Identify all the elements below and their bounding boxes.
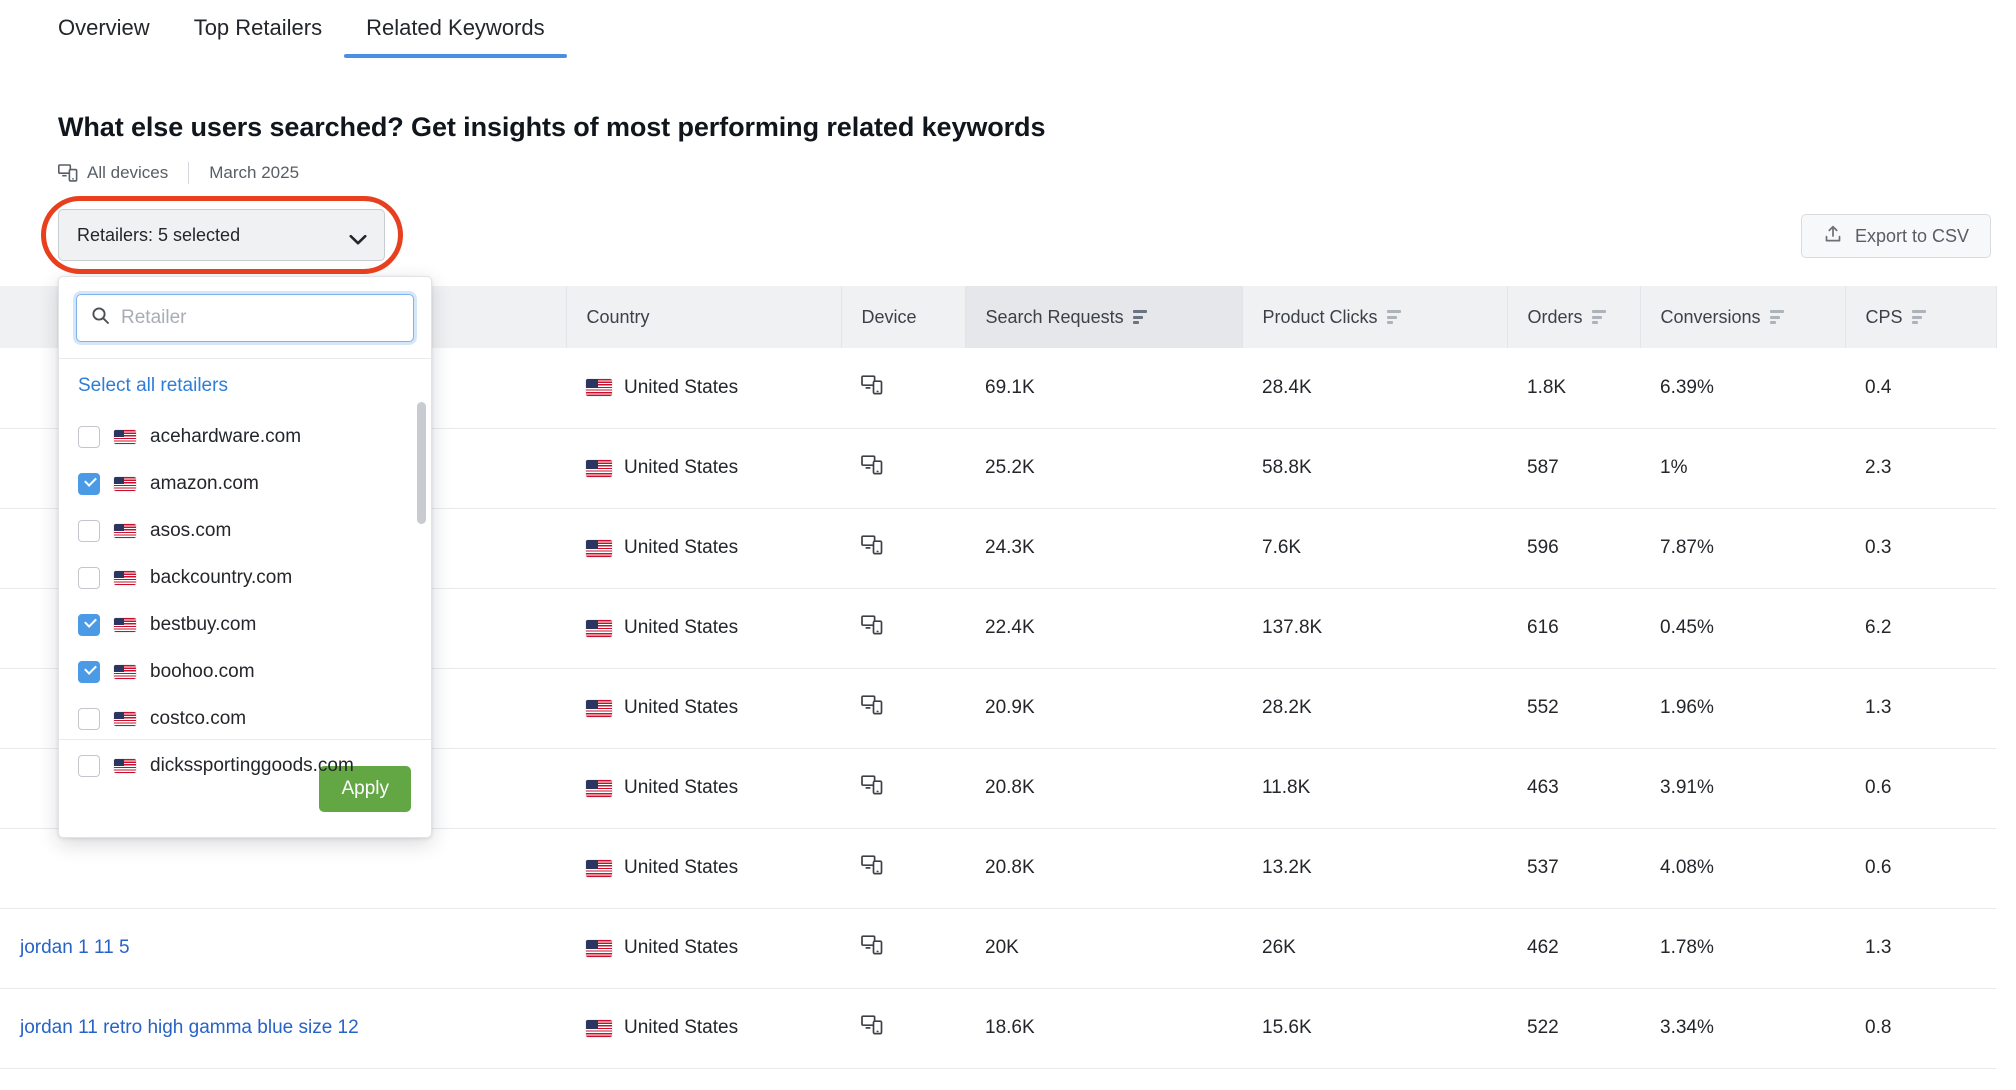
retailer-select-button[interactable]: Retailers: 5 selected	[58, 209, 385, 261]
devices-icon	[861, 935, 883, 955]
cell-search-requests: 24.3K	[965, 508, 1242, 588]
sort-icon-cps[interactable]	[1912, 310, 1926, 324]
retailer-list-item[interactable]: bestbuy.com	[59, 601, 431, 648]
retailer-label: dickssportinggoods.com	[150, 755, 354, 777]
tab-related-keywords-label: Related Keywords	[366, 15, 545, 40]
cell-orders: 596	[1507, 508, 1640, 588]
retailer-list-item[interactable]: amazon.com	[59, 460, 431, 507]
col-header-conversions-label: Conversions	[1661, 307, 1761, 328]
cell-cps: 0.4	[1845, 348, 1996, 428]
retailer-label: amazon.com	[150, 473, 259, 495]
cell-cps: 6.2	[1845, 588, 1996, 668]
retailer-list-item[interactable]: boohoo.com	[59, 648, 431, 695]
devices-icon	[861, 375, 883, 395]
cell-country: United States	[566, 908, 841, 988]
retailer-checkbox[interactable]	[78, 614, 100, 636]
us-flag-icon	[586, 460, 612, 477]
us-flag-icon	[114, 665, 136, 679]
cell-conversions: 6.39%	[1640, 348, 1845, 428]
us-flag-icon	[586, 620, 612, 637]
devices-icon	[861, 695, 883, 715]
retailer-label: costco.com	[150, 708, 246, 730]
cell-orders: 463	[1507, 748, 1640, 828]
us-flag-icon	[586, 780, 612, 797]
col-header-country-label: Country	[587, 307, 650, 328]
retailer-list: Select all retailers acehardware.comamaz…	[59, 359, 431, 739]
devices-icon	[58, 164, 78, 182]
cell-country: United States	[566, 428, 841, 508]
us-flag-icon	[114, 477, 136, 491]
cell-cps: 1.3	[1845, 668, 1996, 748]
retailer-list-item[interactable]: acehardware.com	[59, 413, 431, 460]
cell-search-requests: 25.2K	[965, 428, 1242, 508]
col-header-search-requests[interactable]: Search Requests	[965, 286, 1242, 348]
us-flag-icon	[586, 940, 612, 957]
devices-icon	[861, 855, 883, 875]
us-flag-icon	[114, 524, 136, 538]
cell-product-clicks: 137.8K	[1242, 588, 1507, 668]
country-label: United States	[624, 1017, 738, 1039]
cell-conversions: 4.08%	[1640, 828, 1845, 908]
cell-conversions: 1.78%	[1640, 908, 1845, 988]
cell-orders: 552	[1507, 668, 1640, 748]
table-row: United States20.8K13.2K5374.08%0.6	[0, 828, 1996, 908]
tab-bar: Overview Top Retailers Related Keywords	[0, 0, 2016, 62]
devices-icon	[861, 615, 883, 635]
cell-device	[841, 748, 965, 828]
table-row: jordan 1 11 5United States20K26K4621.78%…	[0, 908, 1996, 988]
devices-icon	[861, 775, 883, 795]
cell-orders: 587	[1507, 428, 1640, 508]
retailer-checkbox[interactable]	[78, 708, 100, 730]
cell-search-requests: 20K	[965, 908, 1242, 988]
retailer-checkbox[interactable]	[78, 520, 100, 542]
cell-orders: 522	[1507, 988, 1640, 1068]
sort-icon-search-requests[interactable]	[1133, 310, 1147, 324]
cell-orders: 616	[1507, 588, 1640, 668]
us-flag-icon	[586, 1020, 612, 1037]
tab-overview[interactable]: Overview	[58, 14, 172, 58]
cell-conversions: 1.96%	[1640, 668, 1845, 748]
country-label: United States	[624, 377, 738, 399]
col-header-orders-label: Orders	[1528, 307, 1583, 328]
cell-country: United States	[566, 508, 841, 588]
retailer-list-item[interactable]: costco.com	[59, 695, 431, 742]
cell-product-clicks: 15.6K	[1242, 988, 1507, 1068]
col-header-product-clicks[interactable]: Product Clicks	[1242, 286, 1507, 348]
us-flag-icon	[114, 712, 136, 726]
us-flag-icon	[114, 618, 136, 632]
export-to-csv-button[interactable]: Export to CSV	[1801, 214, 1991, 258]
col-header-product-clicks-label: Product Clicks	[1263, 307, 1378, 328]
col-header-conversions[interactable]: Conversions	[1640, 286, 1845, 348]
meta-row: All devices March 2025	[58, 162, 2016, 184]
cell-search-requests: 18.6K	[965, 988, 1242, 1068]
retailer-checkbox[interactable]	[78, 473, 100, 495]
cell-device	[841, 988, 965, 1068]
retailer-list-item[interactable]: dickssportinggoods.com	[59, 742, 431, 789]
cell-cps: 0.6	[1845, 828, 1996, 908]
cell-orders: 1.8K	[1507, 348, 1640, 428]
sort-icon-conversions[interactable]	[1770, 310, 1784, 324]
country-label: United States	[624, 857, 738, 879]
cell-product-clicks: 28.4K	[1242, 348, 1507, 428]
devices-icon	[861, 1015, 883, 1035]
retailer-label: asos.com	[150, 520, 231, 542]
upload-icon	[1823, 224, 1843, 249]
cell-cps: 0.6	[1845, 748, 1996, 828]
cell-search-requests: 22.4K	[965, 588, 1242, 668]
date-label: March 2025	[209, 163, 299, 183]
us-flag-icon	[114, 759, 136, 773]
col-header-device-label: Device	[862, 307, 917, 328]
chevron-down-icon	[349, 230, 367, 241]
cell-device	[841, 588, 965, 668]
retailer-label: backcountry.com	[150, 567, 292, 589]
us-flag-icon	[586, 700, 612, 717]
cell-device	[841, 668, 965, 748]
retailer-checkbox[interactable]	[78, 426, 100, 448]
cell-conversions: 7.87%	[1640, 508, 1845, 588]
tab-top-retailers-label: Top Retailers	[194, 15, 322, 40]
keyword-link[interactable]: jordan 1 11 5	[20, 937, 130, 958]
select-all-retailers-link[interactable]: Select all retailers	[59, 375, 431, 397]
retailer-list-item[interactable]: backcountry.com	[59, 554, 431, 601]
retailer-label: bestbuy.com	[150, 614, 256, 636]
retailer-search-input[interactable]	[121, 307, 399, 329]
us-flag-icon	[586, 860, 612, 877]
cell-product-clicks: 11.8K	[1242, 748, 1507, 828]
devices-icon	[861, 535, 883, 555]
cell-country: United States	[566, 988, 841, 1068]
retailer-checkbox[interactable]	[78, 661, 100, 683]
cell-cps: 0.8	[1845, 988, 1996, 1068]
sort-icon-orders[interactable]	[1592, 310, 1606, 324]
cell-device	[841, 428, 965, 508]
cell-orders: 537	[1507, 828, 1640, 908]
cell-country: United States	[566, 588, 841, 668]
dropdown-scrollbar-thumb[interactable]	[417, 402, 426, 524]
cell-device	[841, 348, 965, 428]
country-label: United States	[624, 457, 738, 479]
cell-country: United States	[566, 748, 841, 828]
table-row: jordan 11 retro high gamma blue size 12U…	[0, 988, 1996, 1068]
all-devices-label: All devices	[87, 163, 168, 183]
keyword-link[interactable]: jordan 11 retro high gamma blue size 12	[20, 1017, 359, 1038]
tab-related-keywords[interactable]: Related Keywords	[344, 14, 567, 58]
cell-cps: 1.3	[1845, 908, 1996, 988]
retailer-search-row	[59, 277, 431, 358]
us-flag-icon	[114, 430, 136, 444]
us-flag-icon	[114, 571, 136, 585]
cell-device	[841, 508, 965, 588]
filter-toolbar: Retailers: 5 selected Export to CSV	[0, 209, 2016, 261]
country-label: United States	[624, 537, 738, 559]
cell-orders: 462	[1507, 908, 1640, 988]
retailer-checkbox[interactable]	[78, 755, 100, 777]
cell-product-clicks: 13.2K	[1242, 828, 1507, 908]
col-header-orders[interactable]: Orders	[1507, 286, 1640, 348]
retailer-list-item[interactable]: asos.com	[59, 507, 431, 554]
col-header-cps-label: CPS	[1866, 307, 1903, 328]
cell-country: United States	[566, 668, 841, 748]
sort-icon-product-clicks[interactable]	[1387, 310, 1401, 324]
cell-search-requests: 20.8K	[965, 828, 1242, 908]
cell-product-clicks: 26K	[1242, 908, 1507, 988]
cell-device	[841, 828, 965, 908]
tab-overview-label: Overview	[58, 15, 150, 40]
cell-device	[841, 908, 965, 988]
cell-product-clicks: 7.6K	[1242, 508, 1507, 588]
tab-top-retailers[interactable]: Top Retailers	[172, 14, 344, 58]
country-label: United States	[624, 697, 738, 719]
retailer-dropdown-panel: Select all retailers acehardware.comamaz…	[58, 276, 432, 838]
cell-search-requests: 20.8K	[965, 748, 1242, 828]
cell-cps: 2.3	[1845, 428, 1996, 508]
retailer-label: acehardware.com	[150, 426, 301, 448]
retailer-select-label: Retailers: 5 selected	[77, 225, 240, 246]
retailer-label: boohoo.com	[150, 661, 255, 683]
col-header-country: Country	[566, 286, 841, 348]
search-icon	[91, 306, 110, 330]
cell-product-clicks: 28.2K	[1242, 668, 1507, 748]
cell-conversions: 1%	[1640, 428, 1845, 508]
cell-keyword: jordan 1 11 5	[0, 908, 566, 988]
cell-country: United States	[566, 348, 841, 428]
page-title: What else users searched? Get insights o…	[58, 111, 2016, 143]
country-label: United States	[624, 777, 738, 799]
cell-country: United States	[566, 828, 841, 908]
col-header-device: Device	[841, 286, 965, 348]
cell-keyword: jordan 11 retro high gamma blue size 12	[0, 988, 566, 1068]
cell-search-requests: 69.1K	[965, 348, 1242, 428]
cell-product-clicks: 58.8K	[1242, 428, 1507, 508]
retailer-filter: Retailers: 5 selected	[58, 209, 385, 261]
cell-conversions: 3.34%	[1640, 988, 1845, 1068]
meta-divider	[188, 162, 189, 184]
export-to-csv-label: Export to CSV	[1855, 226, 1969, 247]
retailer-checkbox[interactable]	[78, 567, 100, 589]
us-flag-icon	[586, 379, 612, 396]
cell-conversions: 3.91%	[1640, 748, 1845, 828]
col-header-search-requests-label: Search Requests	[986, 307, 1124, 328]
cell-keyword	[0, 828, 566, 908]
retailer-search-box[interactable]	[76, 294, 414, 342]
cell-cps: 0.3	[1845, 508, 1996, 588]
country-label: United States	[624, 617, 738, 639]
cell-conversions: 0.45%	[1640, 588, 1845, 668]
devices-icon	[861, 455, 883, 475]
cell-search-requests: 20.9K	[965, 668, 1242, 748]
country-label: United States	[624, 937, 738, 959]
us-flag-icon	[586, 540, 612, 557]
col-header-cps[interactable]: CPS	[1845, 286, 1996, 348]
